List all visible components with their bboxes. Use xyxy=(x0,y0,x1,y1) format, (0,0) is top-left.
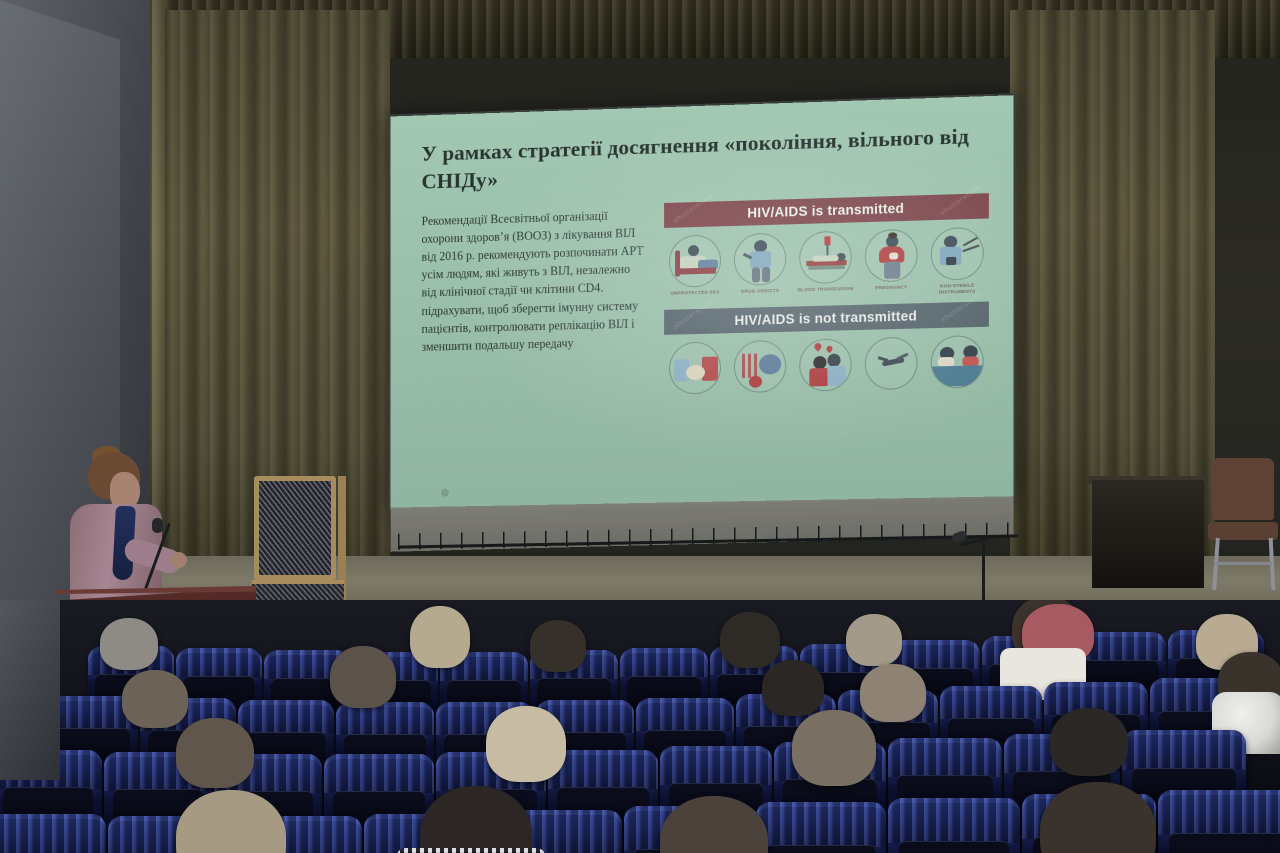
audience-head xyxy=(410,606,470,668)
non-sterile-instruments-icon xyxy=(931,227,984,281)
audience-head xyxy=(122,670,188,728)
item-label: DRUG ADDICTS xyxy=(732,287,788,294)
gooseneck-microphone-head xyxy=(152,518,163,533)
watermark-text: shutterstock xyxy=(940,291,984,324)
auditorium-seat xyxy=(1158,790,1280,853)
item-label xyxy=(667,396,723,397)
item-pregnancy: PREGNANCY xyxy=(863,228,920,297)
dark-cabinet xyxy=(1092,480,1204,588)
watermark-text: shutterstock xyxy=(672,298,715,331)
row-not-transmitted-items xyxy=(664,326,989,397)
left-wall-lower xyxy=(0,600,60,780)
item-sharing-utensils xyxy=(732,339,788,395)
band-hiv-not-transmitted-label: HIV/AIDS is not transmitted xyxy=(735,308,917,328)
watermark-text: shutterstock xyxy=(939,184,983,217)
brown-stacking-chair xyxy=(1208,458,1280,590)
audience-head xyxy=(1050,708,1128,776)
audience-head xyxy=(100,618,158,670)
item-label: PREGNANCY xyxy=(863,284,920,291)
blood-transfusion-icon xyxy=(799,230,851,284)
audience-seating-area xyxy=(0,600,1280,853)
item-kissing-hugging xyxy=(797,338,853,395)
item-unprotected-sex: UNPROTECTED SEX xyxy=(667,234,723,302)
audience-head xyxy=(330,646,396,708)
audience-head xyxy=(720,612,780,668)
item-drug-addicts: DRUG ADDICTS xyxy=(732,232,788,300)
item-label xyxy=(929,390,986,391)
slide-title: У рамках стратегії досягнення «покоління… xyxy=(422,122,989,196)
slide-footer-mark xyxy=(441,489,449,497)
kiss-hearts-icon xyxy=(799,338,851,392)
clothing-towel-icon xyxy=(669,341,721,394)
audience-head xyxy=(792,710,876,786)
audience-head xyxy=(762,660,824,716)
audience-head xyxy=(846,614,902,666)
pregnancy-icon xyxy=(865,229,918,283)
infographic: HIV/AIDS is transmitted shutterstock shu… xyxy=(664,193,989,397)
item-non-sterile-instruments: NON-STERILE INSTRUMENTS xyxy=(929,227,986,296)
audience-head xyxy=(860,664,926,722)
lecture-hall-photo: У рамках стратегії досягнення «покоління… xyxy=(0,0,1280,853)
audience-head xyxy=(530,620,586,672)
unprotected-sex-icon xyxy=(669,234,721,287)
item-label xyxy=(732,395,788,396)
presenter-hand xyxy=(170,552,187,568)
mosquito-icon xyxy=(865,336,918,390)
utensils-plate-icon xyxy=(734,339,786,392)
item-label: NON-STERILE INSTRUMENTS xyxy=(929,282,986,295)
auditorium-seat xyxy=(0,814,106,853)
audience-plaid-scarf xyxy=(396,848,546,853)
slide-body-text: Рекомендації Всесвітньої організації охо… xyxy=(422,203,647,402)
chair-stretcher xyxy=(1214,562,1272,565)
projected-slide: У рамках стратегії досягнення «покоління… xyxy=(390,95,1013,507)
item-blood-transfusion: BLOOD TRANSFUSION xyxy=(797,230,853,299)
auditorium-seat xyxy=(888,798,1020,853)
item-label: BLOOD TRANSFUSION xyxy=(797,286,853,293)
item-sharing-clothes xyxy=(667,341,723,397)
chair-backrest xyxy=(254,476,336,580)
audience-head xyxy=(176,718,254,788)
watermark-text: shutterstock xyxy=(672,192,715,225)
chair-backrest xyxy=(1212,458,1274,520)
item-insect-bites xyxy=(863,336,920,393)
item-swimming-pool xyxy=(929,335,986,392)
item-label: UNPROTECTED SEX xyxy=(667,289,723,296)
item-label xyxy=(797,393,853,394)
swimming-pool-icon xyxy=(931,335,984,389)
audience-head xyxy=(486,706,566,782)
band-hiv-transmitted-label: HIV/AIDS is transmitted xyxy=(747,201,904,221)
item-label xyxy=(863,392,920,393)
auditorium-seat xyxy=(756,802,886,853)
slide-body: Рекомендації Всесвітньої організації охо… xyxy=(422,193,989,403)
drug-addicts-icon xyxy=(734,232,786,286)
row-transmitted-items: UNPROTECTED SEX DRUG ADDICTS xyxy=(664,218,989,302)
